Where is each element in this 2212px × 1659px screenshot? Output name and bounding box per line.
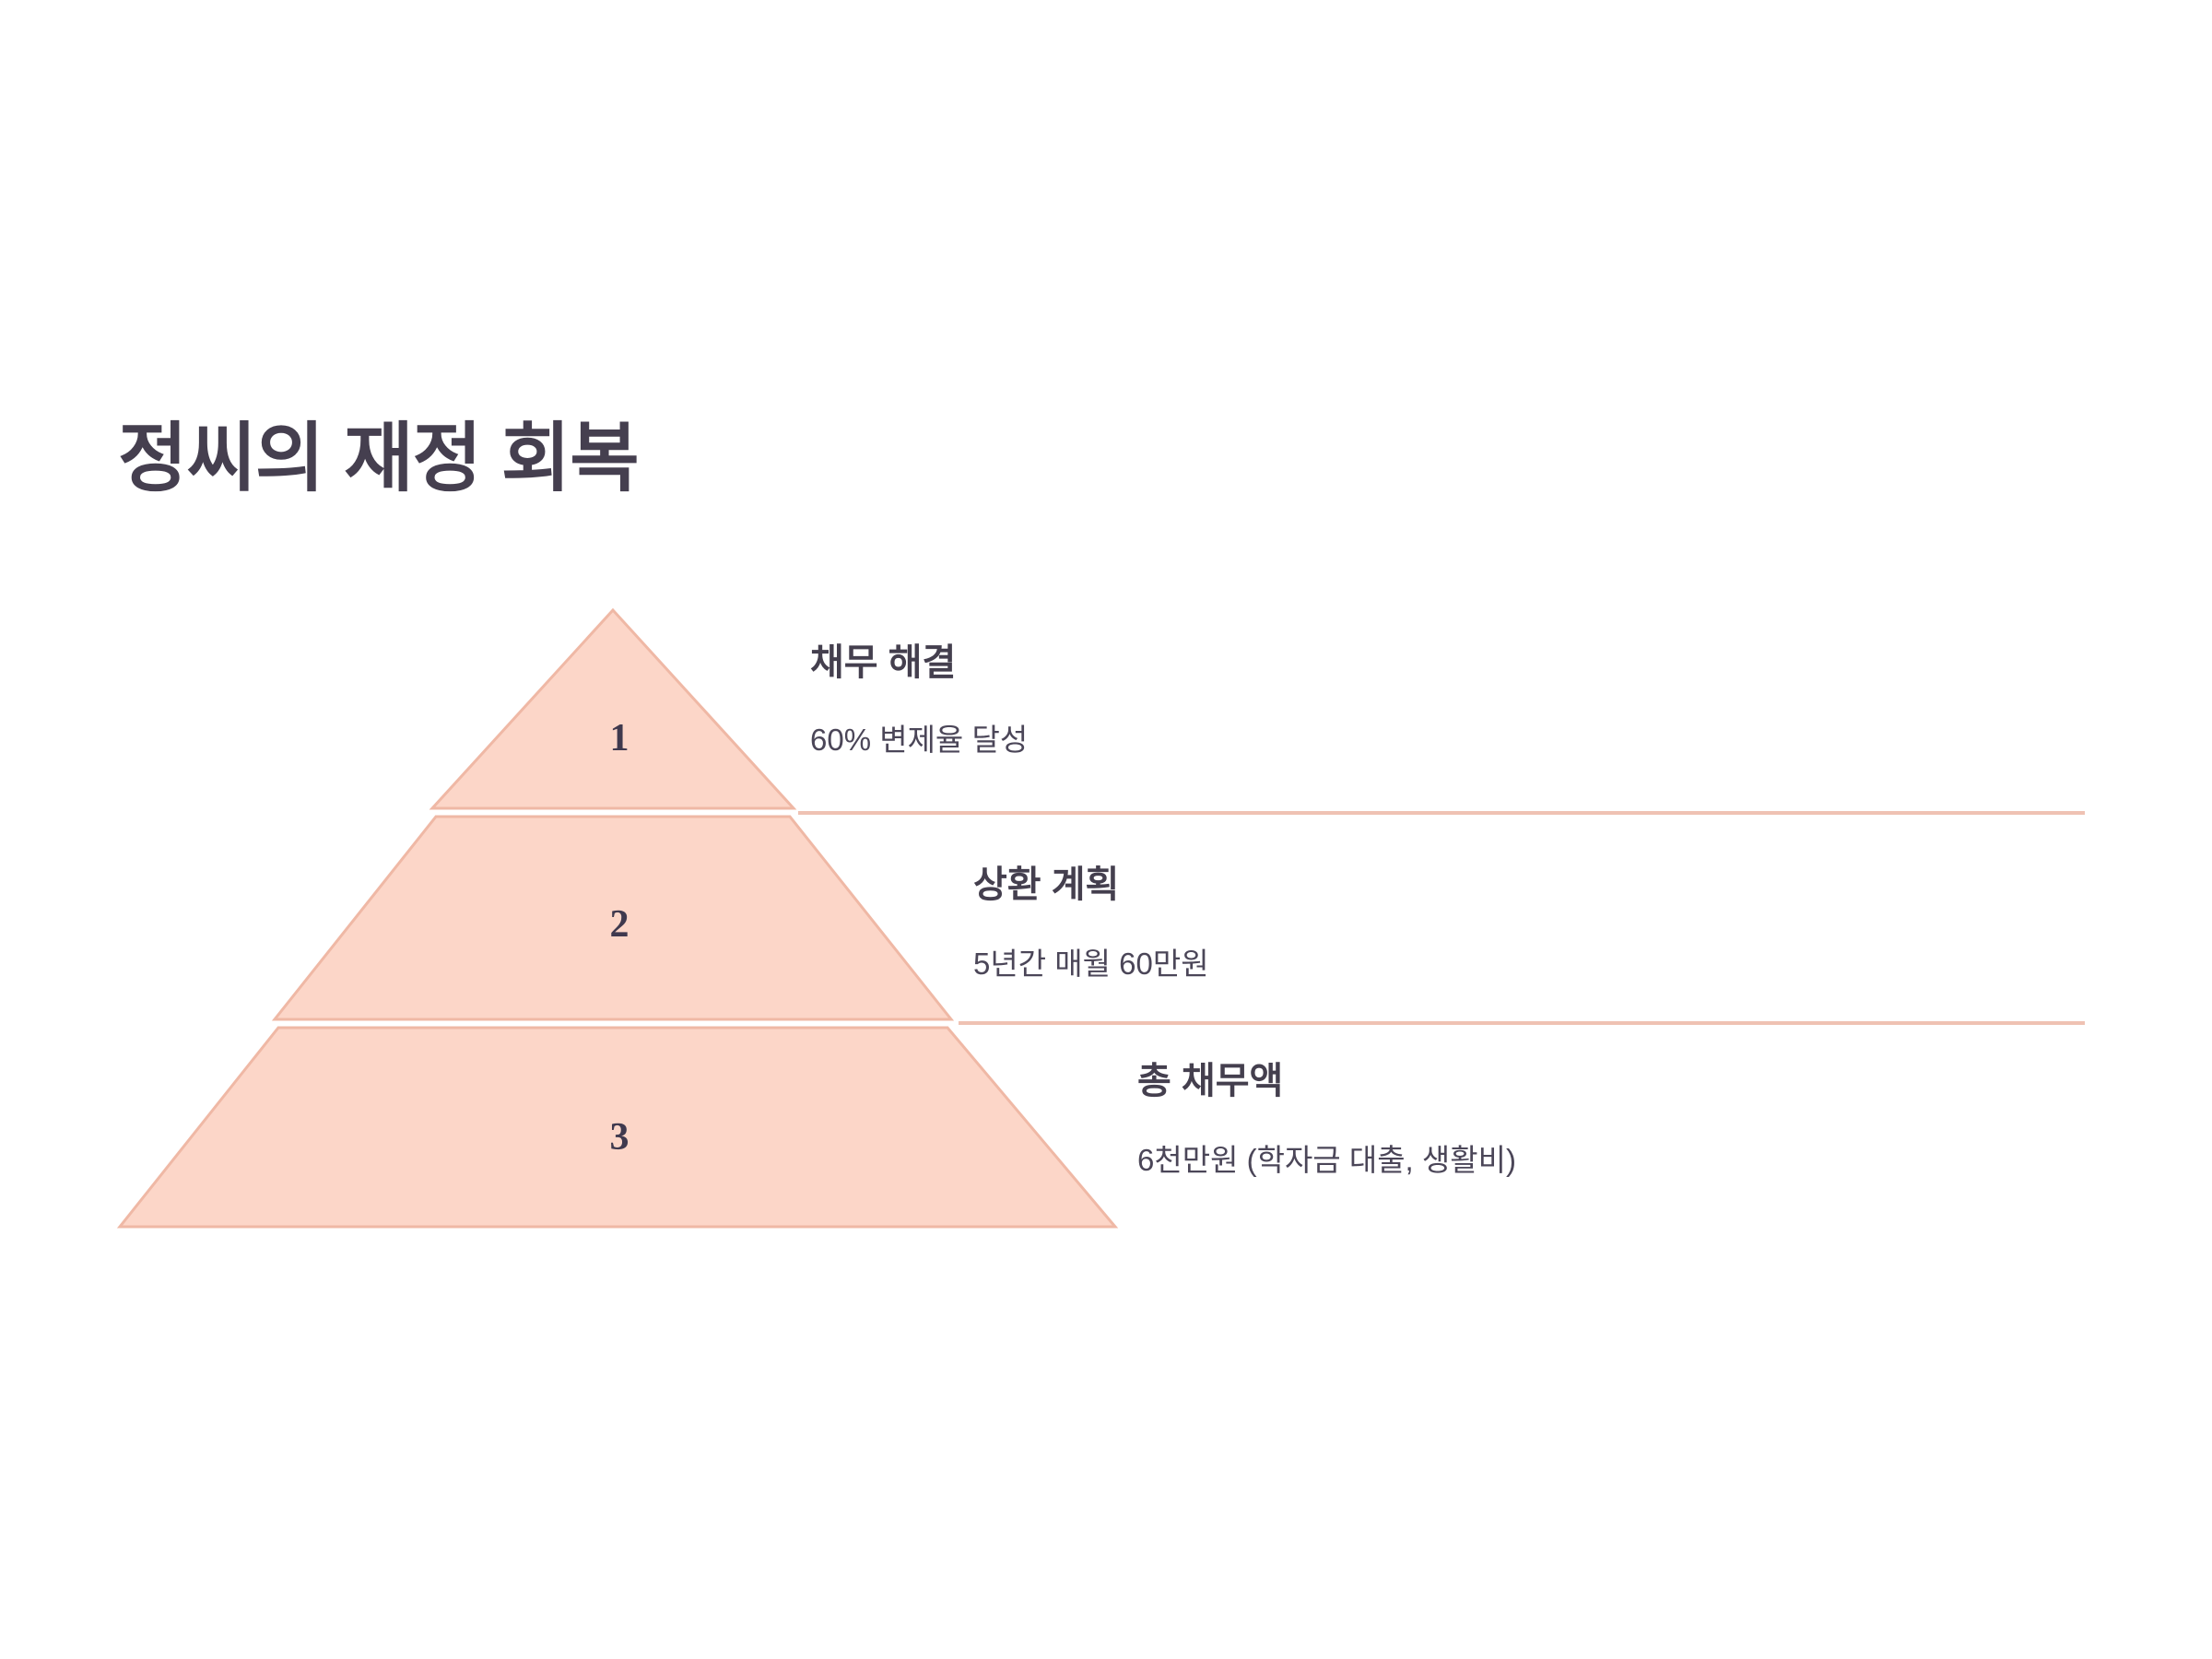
pyramid-tier-1-number: 1 [582, 719, 656, 758]
pyramid-tier-2-subtitle: 5년간 매월 60만원 [973, 945, 1209, 984]
pyramid-tier-2-label: 상환 계획 5년간 매월 60만원 [973, 862, 1209, 984]
pyramid-tier-2-heading: 상환 계획 [973, 862, 1209, 908]
pyramid-tier-3-heading: 총 채무액 [1137, 1058, 1516, 1104]
pyramid-tier-1-subtitle: 60% 변제율 달성 [810, 721, 1028, 760]
pyramid-tier-1-shape[interactable] [432, 610, 794, 808]
pyramid-tier-3-label: 총 채무액 6천만원 (학자금 대출, 생활비) [1137, 1058, 1516, 1181]
pyramid-tier-2-number: 2 [582, 905, 656, 944]
pyramid-tier-3-number: 3 [582, 1118, 656, 1157]
pyramid-tier-1-heading: 채무 해결 [810, 640, 1028, 686]
page-title: 정씨의 재정 회복 [118, 417, 639, 501]
slide-canvas: 정씨의 재정 회복 1 2 3 채무 해결 60% 변제율 달성 상환 계획 5… [0, 0, 2212, 1659]
pyramid-tier-3-subtitle: 6천만원 (학자금 대출, 생활비) [1137, 1141, 1516, 1181]
pyramid-diagram [0, 0, 2212, 1659]
pyramid-tier-1-label: 채무 해결 60% 변제율 달성 [810, 640, 1028, 760]
